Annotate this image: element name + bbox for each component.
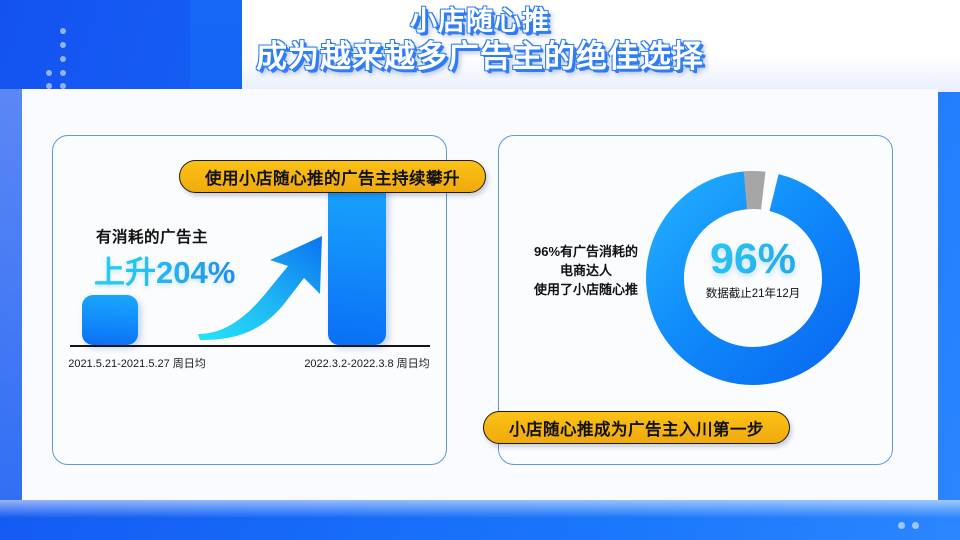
donut-center-sublabel: 数据截止21年12月 [673,285,833,301]
left-card-badge: 使用小店随心推的广告主持续攀升 [179,160,486,193]
panel-bottom-glow [0,500,960,518]
bar-2022 [328,167,386,345]
page-title-line-2: 成为越来越多广告主的绝佳选择 [0,38,960,76]
donut-center-value: 96% [673,235,833,284]
page-title-line-1: 小店随心推 [0,4,960,38]
slide-root: 小店随心推 成为越来越多广告主的绝佳选择 有消耗的广告主 上升204% [0,0,960,540]
main-panel: 有消耗的广告主 上升204% 2021.5.21-2021.5.27 周日均 2… [22,89,938,500]
bar-axis-label-2: 2022.3.2-2022.3.8 周日均 [257,355,477,371]
bar-axis-label-1: 2021.5.21-2021.5.27 周日均 [22,355,252,371]
right-card-badge: 小店随心推成为广告主入川第一步 [483,411,790,444]
panel-left-edge [0,89,22,500]
bar-chart-axis [70,345,430,347]
bar-2021 [82,295,138,345]
page-title: 小店随心推 成为越来越多广告主的绝佳选择 [0,4,960,76]
